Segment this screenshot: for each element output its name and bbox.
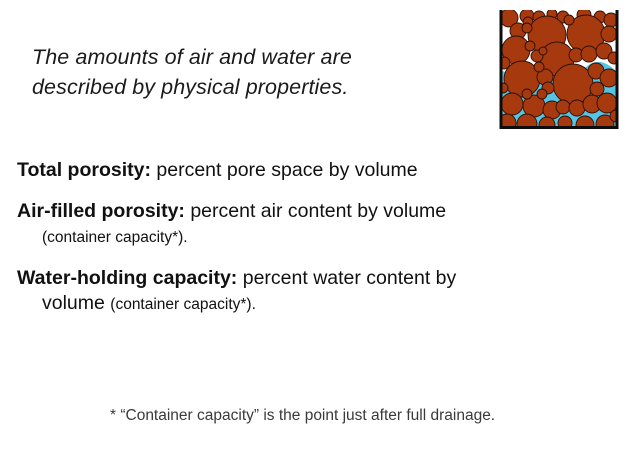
bullet-continuation-note: (container capacity*). <box>42 229 188 246</box>
container-wall-right <box>616 10 619 129</box>
container-wall-left <box>500 10 503 129</box>
bullet-description: percent water content by <box>237 267 456 289</box>
title-line-2: described by physical properties. <box>32 72 462 102</box>
bullet-continuation-word: volume <box>42 292 110 314</box>
bullet-main-line: Total porosity: percent pore space by vo… <box>17 157 617 183</box>
bullet-term: Air-filled porosity: <box>17 200 185 222</box>
soil-particle-container-diagram <box>497 8 621 132</box>
bullet-air-filled-porosity: Air-filled porosity: percent air content… <box>17 198 617 250</box>
slide-canvas: The amounts of air and water are describ… <box>0 0 640 458</box>
bullet-term: Total porosity: <box>17 159 151 181</box>
bullet-description: percent pore space by volume <box>151 159 418 181</box>
bullet-description: percent air content by volume <box>185 200 446 222</box>
bullet-continuation-note: (container capacity*). <box>110 296 256 313</box>
bullet-main-line: Air-filled porosity: percent air content… <box>17 198 617 224</box>
container-wall-bottom <box>500 126 619 129</box>
soil-diagram-svg <box>497 8 621 132</box>
title-line-1: The amounts of air and water are <box>32 42 462 72</box>
footnote-container-capacity: * “Container capacity” is the point just… <box>110 406 495 426</box>
bullet-term: Water-holding capacity: <box>17 267 237 289</box>
bullet-continuation-line: (container capacity*). <box>17 224 617 250</box>
bullet-main-line: Water-holding capacity: percent water co… <box>17 265 617 291</box>
bullet-continuation-line: volume (container capacity*). <box>17 291 617 317</box>
bullet-total-porosity: Total porosity: percent pore space by vo… <box>17 157 617 183</box>
slide-title: The amounts of air and water are describ… <box>32 42 462 102</box>
bullet-water-holding-capacity: Water-holding capacity: percent water co… <box>17 265 617 317</box>
bullet-list: Total porosity: percent pore space by vo… <box>17 157 617 317</box>
